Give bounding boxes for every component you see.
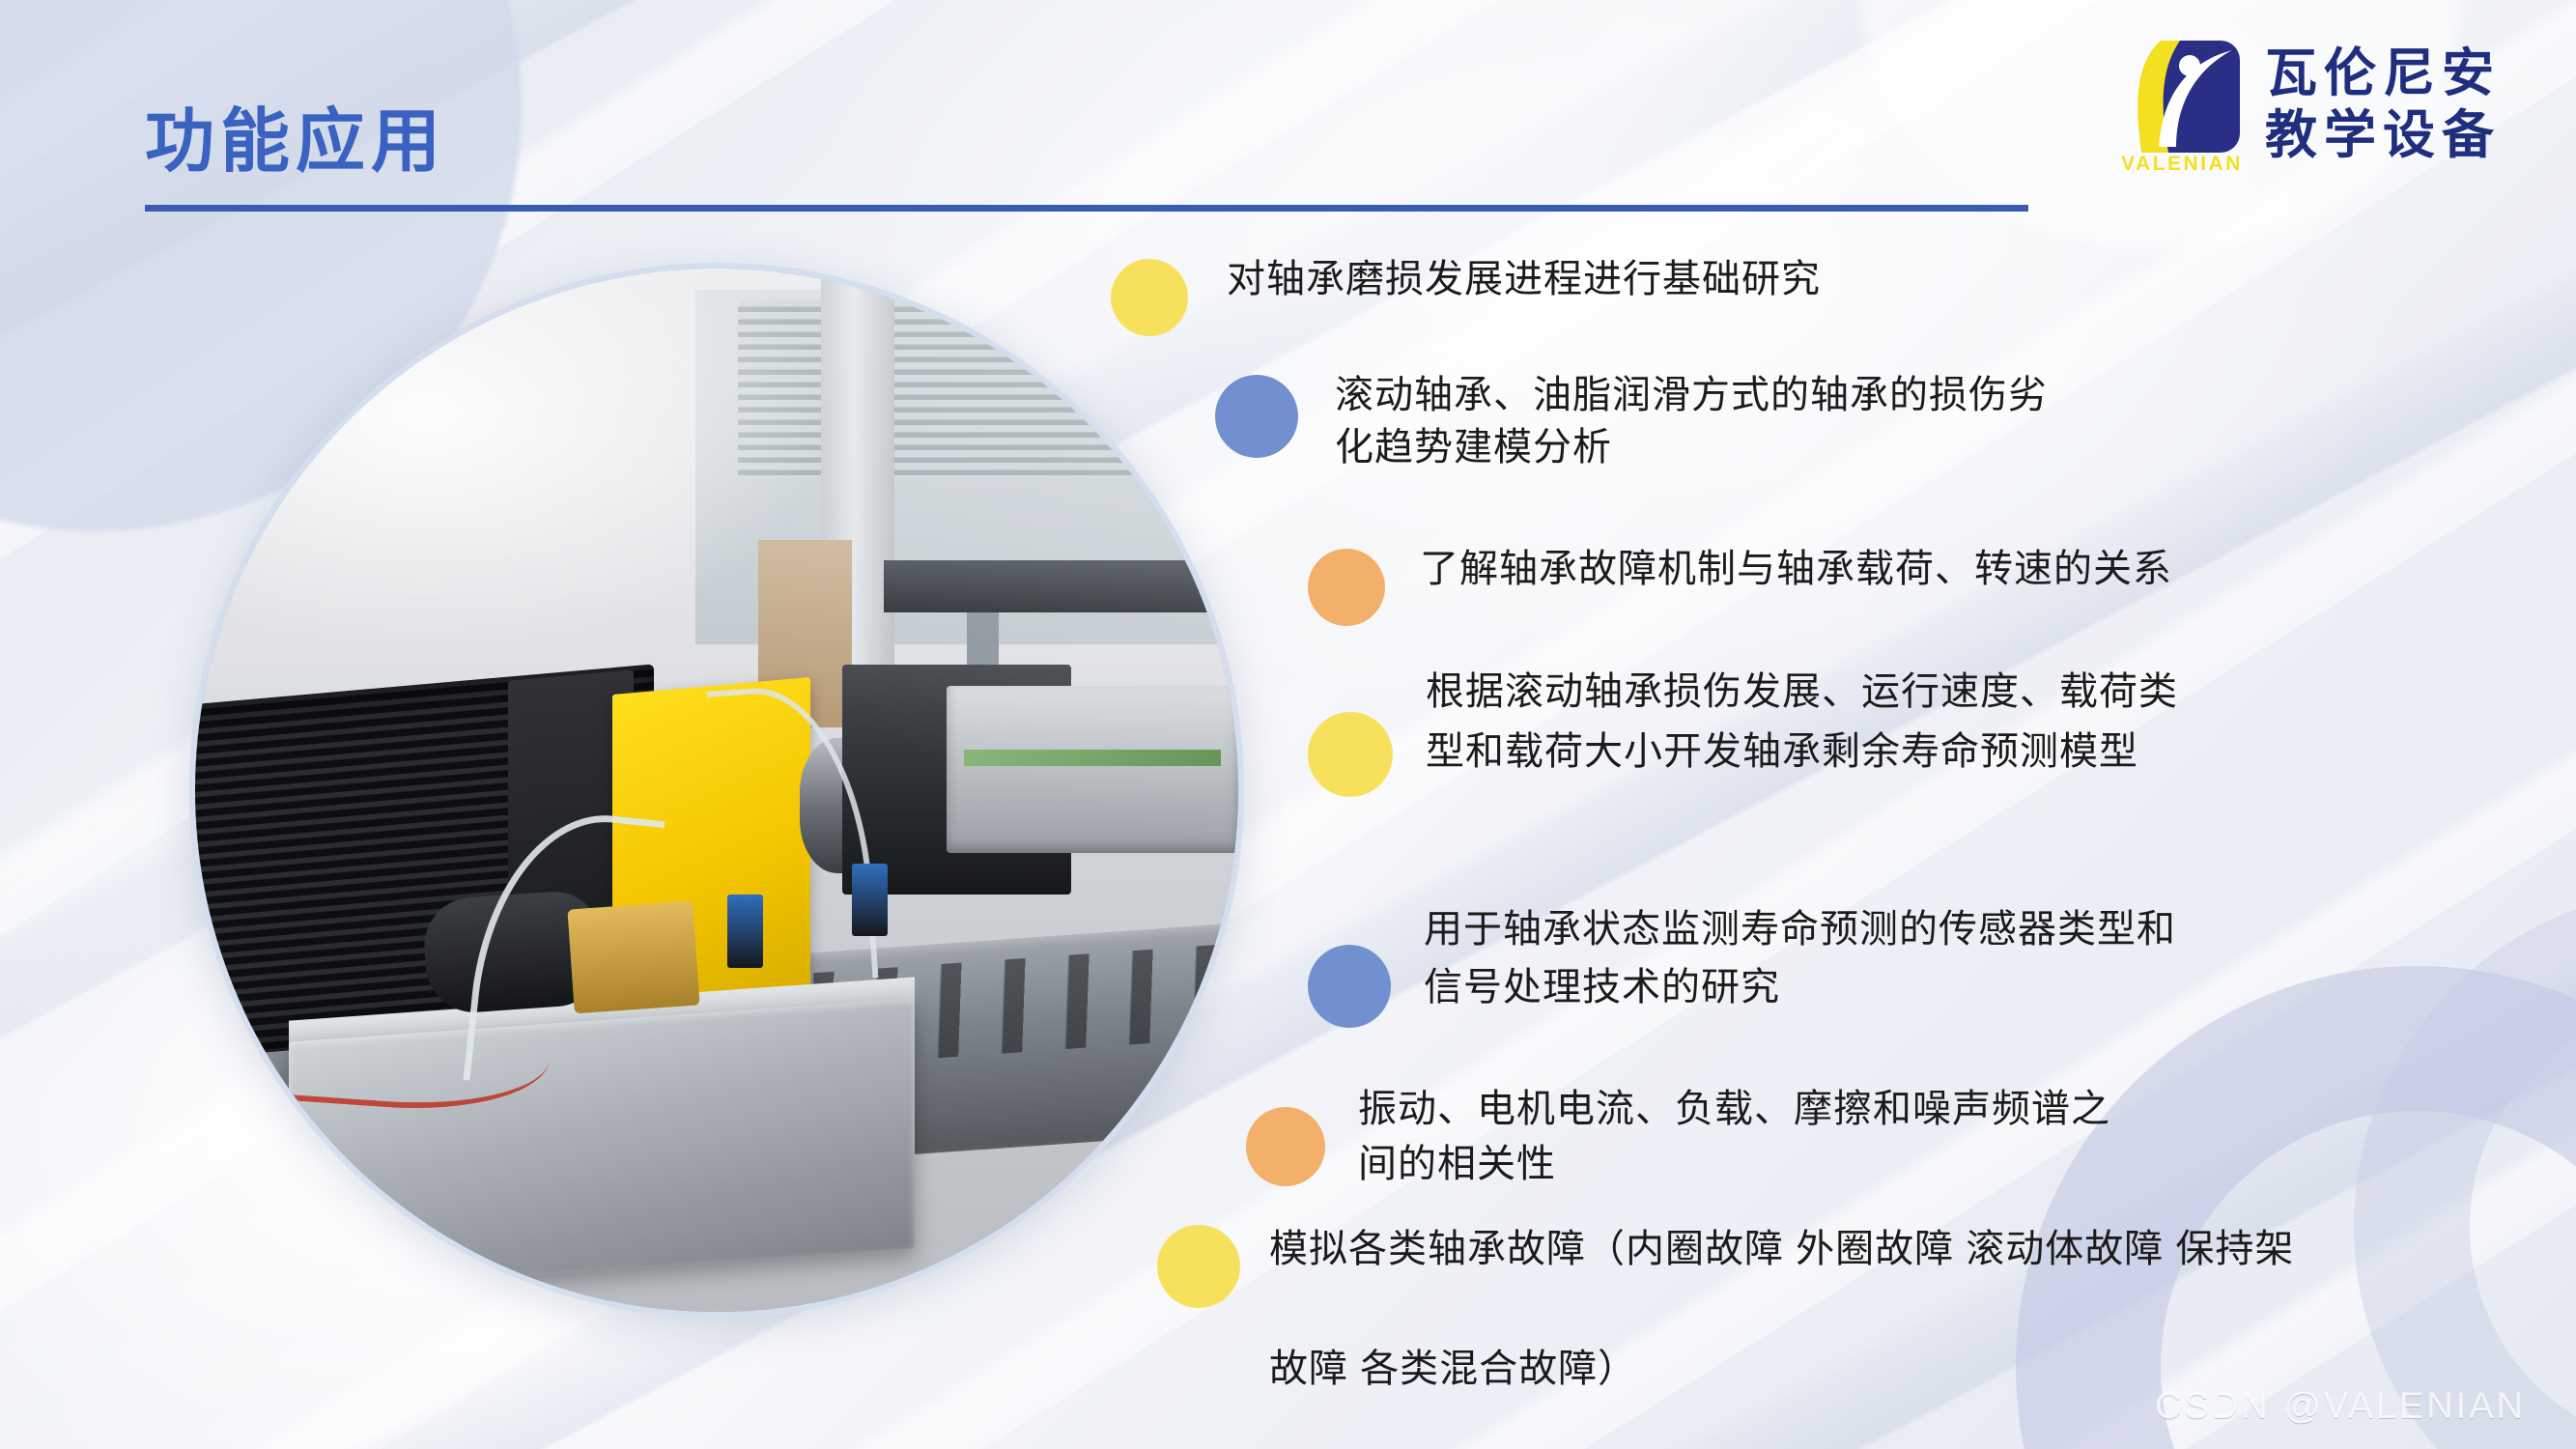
bullet-text: 用于轴承状态监测寿命预测的传感器类型和 信号处理技术的研究 xyxy=(1424,900,2176,1016)
bullet-dot-icon xyxy=(1215,375,1298,458)
brand-logo: VALENIAN 瓦伦尼安 教学设备 xyxy=(2120,37,2501,172)
bullet-item-4: 根据滚动轴承损伤发展、运行速度、载荷类 型和载荷大小开发轴承剩余寿命预测模型 xyxy=(1308,662,2178,797)
valenian-logo-icon: VALENIAN xyxy=(2120,37,2244,172)
equipment-photo xyxy=(195,269,1238,1312)
logo-brand-line-2: 教学设备 xyxy=(2265,106,2501,164)
bullet-item-3: 了解轴承故障机制与轴承载荷、转速的关系 xyxy=(1308,543,2172,626)
logo-brand-line-1: 瓦伦尼安 xyxy=(2265,44,2501,102)
equipment-photo-circle xyxy=(189,263,1244,1318)
page-title: 功能应用 xyxy=(145,106,2077,180)
bullet-text: 滚动轴承、油脂润滑方式的轴承的损伤劣 化趋势建模分析 xyxy=(1335,369,2048,474)
bullet-text: 振动、电机电流、负载、摩擦和噪声频谱之 间的相关性 xyxy=(1358,1082,2110,1192)
bullet-dot-icon xyxy=(1308,549,1385,626)
bullet-item-5: 用于轴承状态监测寿命预测的传感器类型和 信号处理技术的研究 xyxy=(1308,900,2176,1028)
bullet-dot-icon xyxy=(1157,1225,1240,1308)
logo-wordmark-cn: 瓦伦尼安 教学设备 xyxy=(2265,44,2501,165)
logo-wordmark-en: VALENIAN xyxy=(2120,153,2244,176)
header: 功能应用 xyxy=(145,106,2077,212)
bullet-item-2: 滚动轴承、油脂润滑方式的轴承的损伤劣 化趋势建模分析 xyxy=(1215,369,2048,474)
watermark-text: CSDN @VALENIAN xyxy=(2155,1386,2526,1428)
title-underline-rule xyxy=(145,205,2028,212)
bullet-item-6: 振动、电机电流、负载、摩擦和噪声频谱之 间的相关性 xyxy=(1246,1082,2110,1192)
slide-root: 功能应用 VALENIAN 瓦伦尼安 教学设备 xyxy=(0,0,2576,1449)
bullet-text: 根据滚动轴承损伤发展、运行速度、载荷类 型和载荷大小开发轴承剩余寿命预测模型 xyxy=(1426,662,2178,781)
bullet-item-7: 模拟各类轴承故障（内圈故障 外圈故障 滚动体故障 保持架 故障 各类混合故障） xyxy=(1157,1219,2294,1399)
bullet-text: 模拟各类轴承故障（内圈故障 外圈故障 滚动体故障 保持架 故障 各类混合故障） xyxy=(1269,1219,2294,1399)
bullet-text: 对轴承磨损发展进程进行基础研究 xyxy=(1227,253,1821,305)
bullet-dot-icon xyxy=(1308,712,1393,797)
bullet-item-1: 对轴承磨损发展进程进行基础研究 xyxy=(1111,253,1821,336)
bullet-dot-icon xyxy=(1246,1107,1325,1186)
bullet-text: 了解轴承故障机制与轴承载荷、转速的关系 xyxy=(1420,543,2172,595)
bullet-dot-icon xyxy=(1111,259,1188,336)
bullet-dot-icon xyxy=(1308,945,1391,1028)
